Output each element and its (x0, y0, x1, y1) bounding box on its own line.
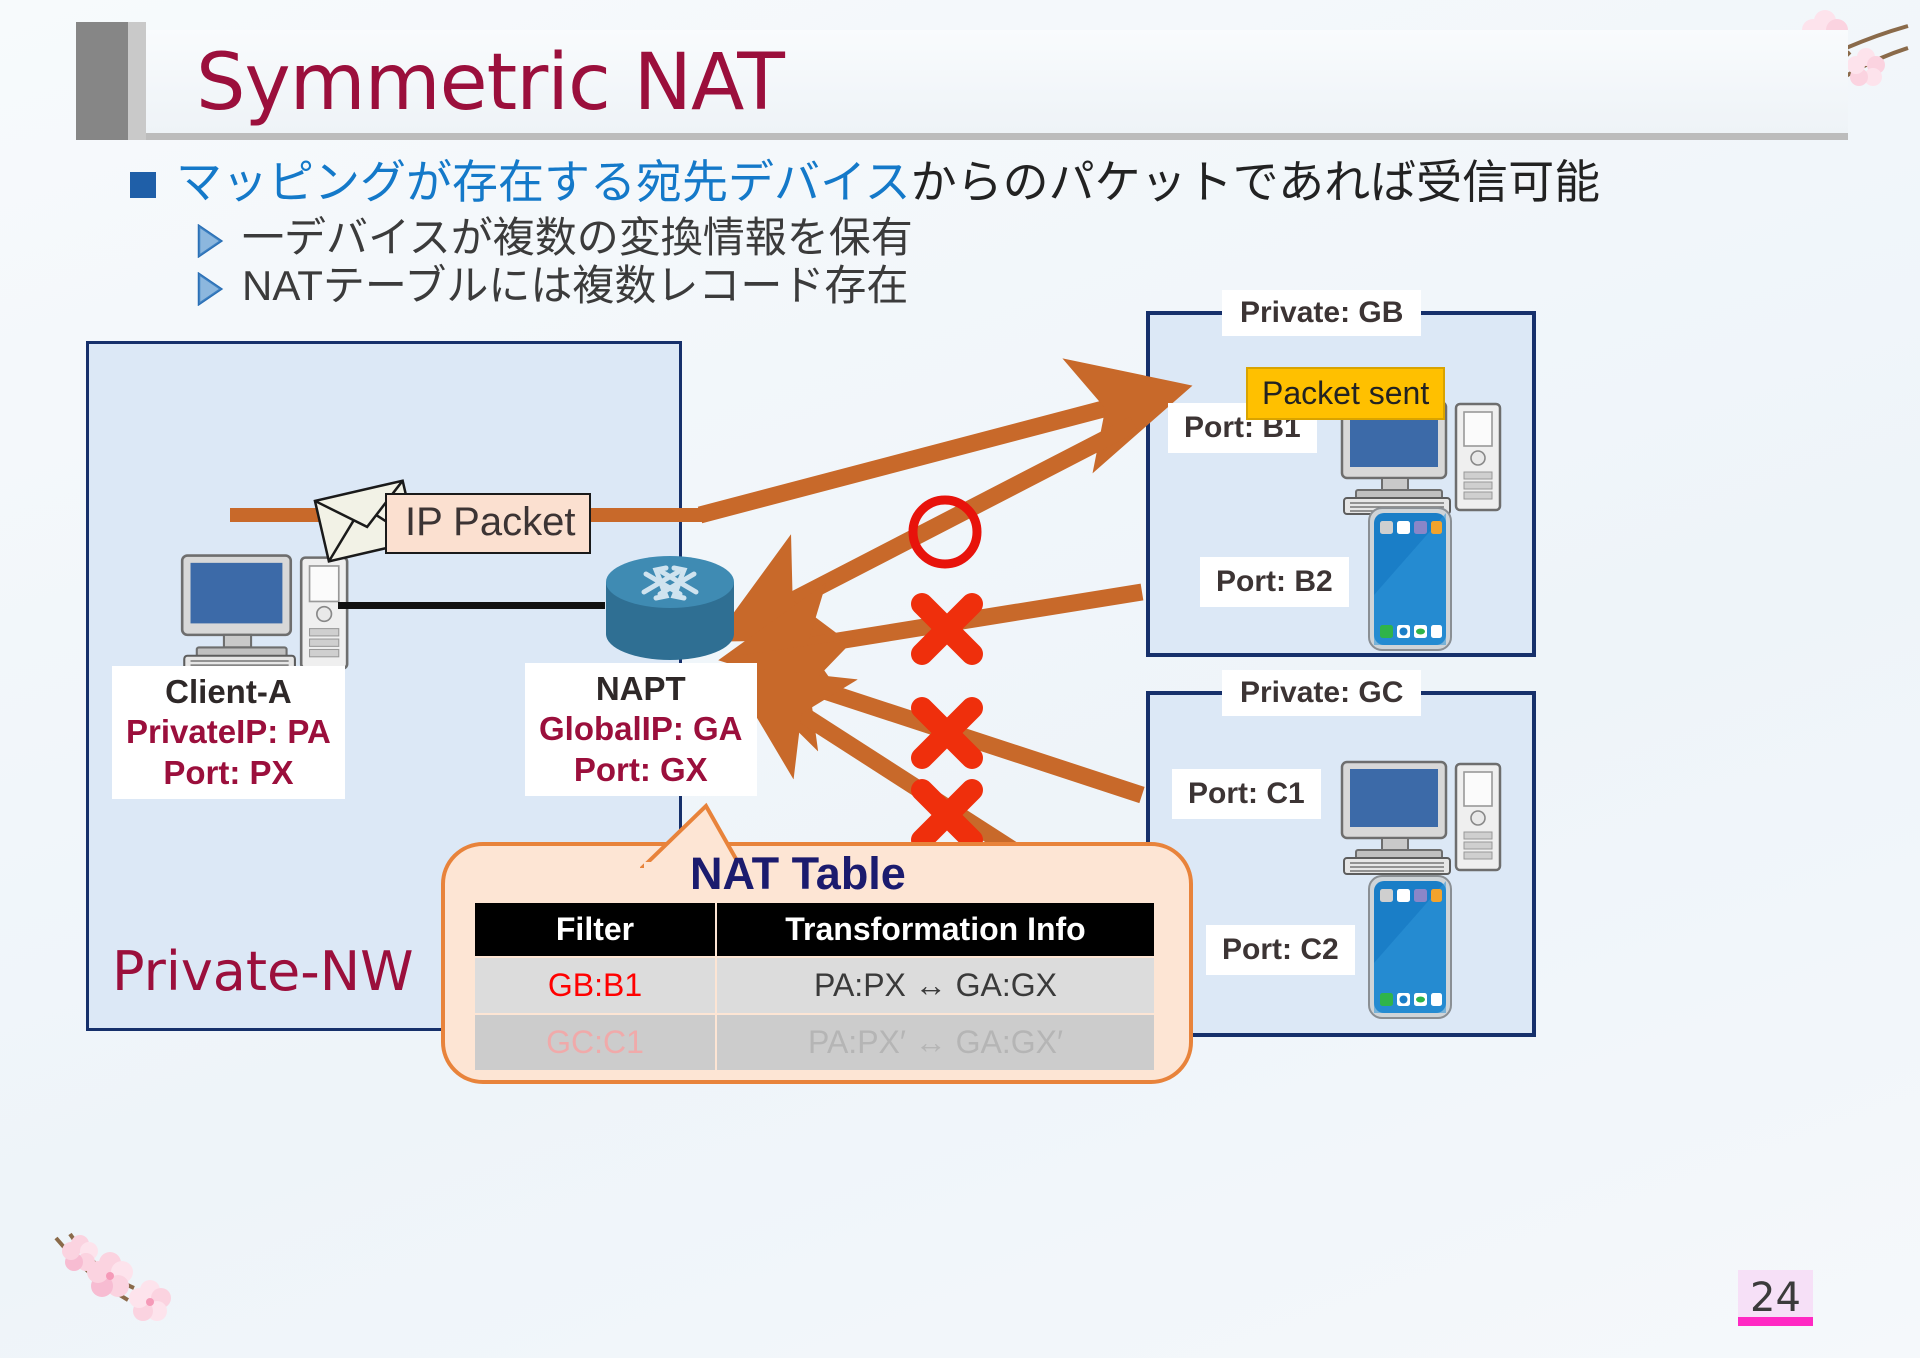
nat-row-1-info: PA:PX ↔ GA:GX (717, 958, 1154, 1013)
client-port: Port: PX (126, 753, 331, 793)
blocked-x-marker (922, 604, 972, 840)
desktop-computer-icon (1338, 758, 1520, 878)
port-label-b2: Port: B2 (1200, 557, 1349, 607)
napt-ip: GlobalIP: GA (539, 709, 743, 749)
napt-port: Port: GX (539, 750, 743, 790)
bullet-main-text: マッピングが存在する宛先デバイスからのパケットであれば受信可能 (176, 158, 1600, 207)
bullet-square-icon (130, 172, 156, 198)
nat-row-2-filter: GC:C1 (475, 1015, 715, 1070)
title-accent-bar-light (128, 22, 146, 140)
bullet-sub-2: NATテーブルには複数レコード存在 (196, 264, 908, 308)
chevron-right-icon (196, 224, 224, 258)
bullet-main-highlight: マッピングが存在する宛先デバイス (176, 156, 911, 208)
sakura-decoration-bottom-left (52, 1228, 202, 1348)
nat-table-header-filter: Filter (475, 903, 715, 956)
bullet-main: マッピングが存在する宛先デバイスからのパケットであれば受信可能 (130, 158, 1600, 207)
client-label-box: Client-A PrivateIP: PA Port: PX (112, 666, 345, 799)
client-name: Client-A (126, 672, 331, 712)
chevron-right-icon (196, 272, 224, 306)
client-ip: PrivateIP: PA (126, 712, 331, 752)
network-title-gc: Private: GC (1222, 670, 1421, 716)
router-icon (600, 556, 740, 666)
smartphone-icon (1366, 505, 1454, 653)
port-label-c1: Port: C1 (1172, 769, 1321, 819)
title-accent-bar (76, 22, 128, 140)
nat-table: Filter Transformation Info GB:B1 PA:PX ↔… (473, 901, 1156, 1072)
bullet-sub-1-text: 一デバイスが複数の変換情報を保有 (242, 216, 913, 260)
page-title: Symmetric NAT (196, 38, 784, 128)
table-row: GC:C1 PA:PX′ ↔ GA:GX′ (475, 1015, 1154, 1070)
private-network-label: Private-NW (112, 940, 414, 1003)
nat-table-header-row: Filter Transformation Info (475, 903, 1154, 956)
napt-label-box: NAPT GlobalIP: GA Port: GX (525, 663, 757, 796)
ip-packet-label: IP Packet (385, 493, 591, 554)
lan-link-line (338, 602, 605, 609)
allowed-circle-marker (913, 500, 977, 564)
nat-row-1-filter: GB:B1 (475, 958, 715, 1013)
network-title-gb: Private: GB (1222, 290, 1421, 336)
port-label-c2: Port: C2 (1206, 925, 1355, 975)
bullet-sub-2-text: NATテーブルには複数レコード存在 (242, 264, 908, 308)
slide-canvas: Symmetric NAT マッピングが存在する宛先デバイスからのパケットであれ… (0, 0, 1920, 1358)
bullet-main-rest: からのパケットであれば受信可能 (911, 156, 1601, 208)
bullet-sub-1: 一デバイスが複数の変換情報を保有 (196, 216, 913, 260)
nat-table-header-transform: Transformation Info (717, 903, 1154, 956)
smartphone-icon (1366, 873, 1454, 1021)
table-row: GB:B1 PA:PX ↔ GA:GX (475, 958, 1154, 1013)
page-number: 24 (1738, 1270, 1813, 1326)
napt-name: NAPT (539, 669, 743, 709)
packet-sent-badge: Packet sent (1246, 367, 1445, 420)
client-desktop-computer-icon (178, 551, 368, 677)
nat-row-2-info: PA:PX′ ↔ GA:GX′ (717, 1015, 1154, 1070)
nat-table-title: NAT Table (690, 848, 906, 900)
